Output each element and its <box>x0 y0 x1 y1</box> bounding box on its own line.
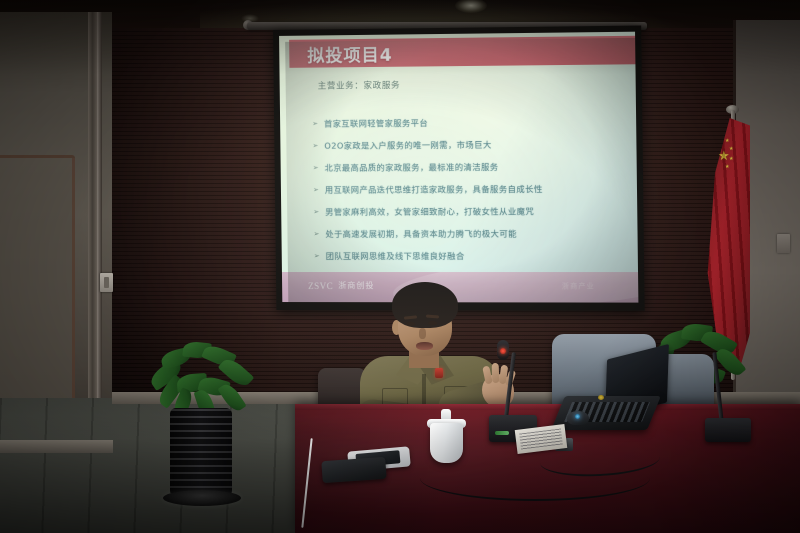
list-item: ➢ 处于高速发展初期，具备资本助力腾飞的极大可能 <box>313 228 623 240</box>
skirting-board-left <box>0 440 113 453</box>
bullet-text: O2O家政是入户服务的唯一刚需，市场巨大 <box>324 140 491 152</box>
document-text-lines <box>519 429 563 450</box>
lapel-badge <box>435 368 443 378</box>
presentation-slide: 拟投项目4 主营业务：家政服务 ➢ 首家互联网轻管家服务平台 ➢ O2O家政是入… <box>279 32 638 303</box>
bullet-text: 北京最高品质的家政服务，最标准的清洁服务 <box>325 162 499 174</box>
projection-screen: 拟投项目4 主营业务：家政服务 ➢ 首家互联网轻管家服务平台 ➢ O2O家政是入… <box>273 25 645 310</box>
list-item: ➢ 男管家麻利高效，女管家细致耐心，打破女性从业魔咒 <box>313 206 623 218</box>
bullet-arrow-icon: ➢ <box>312 119 318 130</box>
slide-subtitle: 主营业务：家政服务 <box>318 79 401 92</box>
slide-title: 拟投项目4 <box>307 40 393 66</box>
bullet-arrow-icon: ➢ <box>313 207 319 218</box>
black-power-bank[interactable] <box>321 457 386 483</box>
bullet-arrow-icon: ➢ <box>312 141 318 152</box>
presenter-mouth <box>416 342 433 350</box>
slide-bullet-list: ➢ 首家互联网轻管家服务平台 ➢ O2O家政是入户服务的唯一刚需，市场巨大 ➢ … <box>312 116 623 273</box>
white-teacup[interactable] <box>430 423 463 463</box>
presenter-nose <box>419 328 426 339</box>
bullet-arrow-icon: ➢ <box>313 229 319 240</box>
wall-outlet <box>777 234 790 253</box>
list-item: ➢ O2O家政是入户服务的唯一刚需，市场巨大 <box>312 139 622 152</box>
logo-mark: ZSVC <box>308 281 333 291</box>
bullet-arrow-icon: ➢ <box>314 251 320 262</box>
planter-left <box>170 408 232 500</box>
slide-title-bar: 拟投项目4 <box>289 36 635 68</box>
planter-left-base <box>163 490 241 506</box>
photo-scene: 拟投项目4 主营业务：家政服务 ➢ 首家互联网轻管家服务平台 ➢ O2O家政是入… <box>0 0 800 533</box>
microphone-led <box>495 431 509 435</box>
bullet-text: 男管家麻利高效，女管家细致耐心，打破女性从业魔咒 <box>325 206 534 218</box>
bullet-text: 处于高速发展初期，具备资本助力腾飞的极大可能 <box>325 228 517 239</box>
light-switch[interactable] <box>100 273 113 292</box>
presenter-eye-right <box>428 321 437 325</box>
list-item: ➢ 团队互联网思维及线下思维良好融合 <box>314 251 624 262</box>
list-item: ➢ 北京最高品质的家政服务，最标准的清洁服务 <box>313 161 623 174</box>
presenter-eye-left <box>406 322 415 326</box>
door-jamb <box>88 12 97 462</box>
presenter-hair <box>392 282 458 328</box>
mouse-led-icon <box>575 414 580 419</box>
laptop-trackpoint[interactable] <box>598 395 604 400</box>
bullet-arrow-icon: ➢ <box>313 163 319 174</box>
bullet-text: 团队互联网思维及线下思维良好融合 <box>326 251 465 262</box>
microphone-base-right[interactable] <box>705 418 751 442</box>
bullet-text: 用互联网产品迭代思维打造家政服务，具备服务自成长性 <box>325 184 543 196</box>
bullet-text: 首家互联网轻管家服务平台 <box>324 118 428 130</box>
bullet-arrow-icon: ➢ <box>313 185 319 196</box>
list-item: ➢ 用互联网产品迭代思维打造家政服务，具备服务自成长性 <box>313 183 623 195</box>
microphone-indicator-light <box>500 348 506 354</box>
footer-ghost-text: 浙商产业 <box>562 281 595 291</box>
door-frame-edge <box>97 12 102 462</box>
list-item: ➢ 首家互联网轻管家服务平台 <box>312 116 622 129</box>
